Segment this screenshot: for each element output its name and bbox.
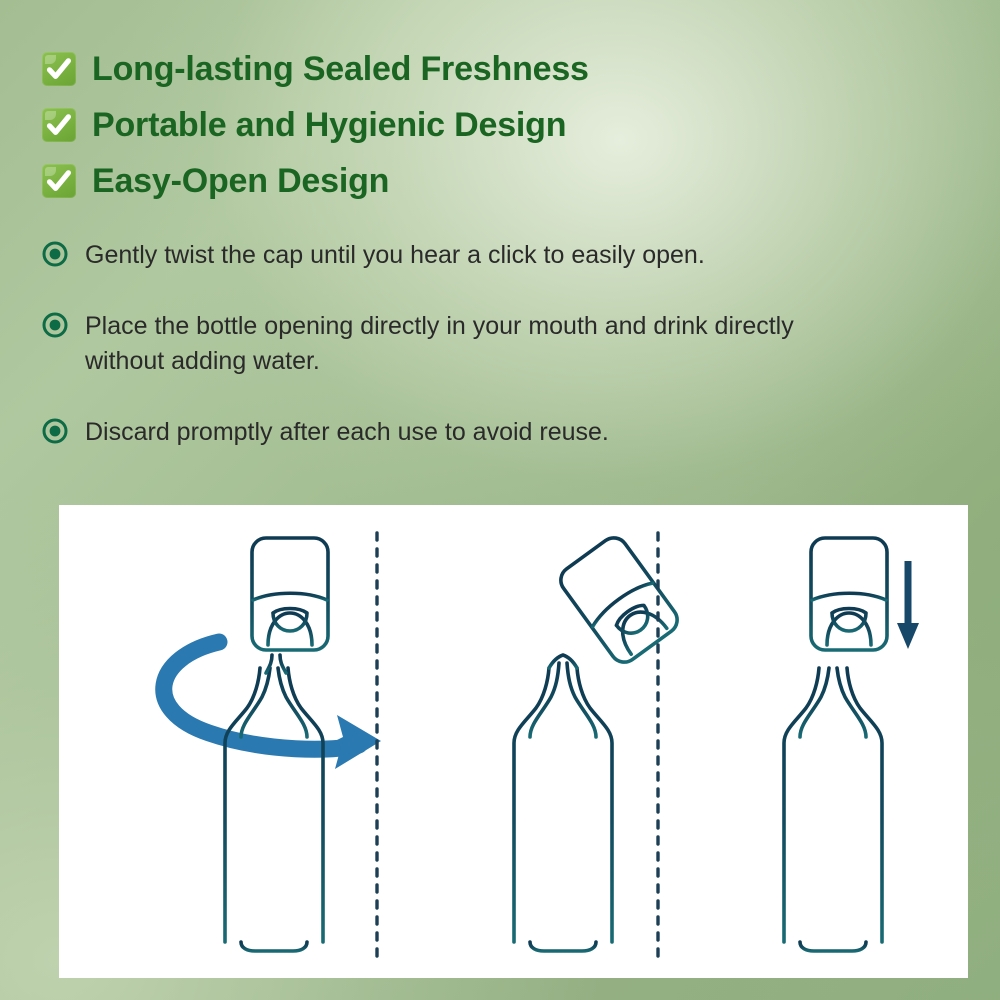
instruction-list: Gently twist the cap until you hear a cl… — [41, 238, 831, 450]
bottle-neck — [260, 651, 288, 673]
instruction-text: Place the bottle opening directly in you… — [85, 309, 815, 379]
feature-item: Long-lasting Sealed Freshness — [42, 44, 922, 94]
usage-steps-panel — [59, 505, 968, 978]
bottle-cap — [252, 538, 328, 650]
instruction-text: Discard promptly after each use to avoid… — [85, 415, 609, 450]
down-arrow-icon — [897, 561, 919, 649]
checkbox-check-icon — [42, 52, 76, 86]
feature-label: Easy-Open Design — [92, 164, 389, 198]
feature-item: Portable and Hygienic Design — [42, 100, 922, 150]
bottle-neck — [819, 651, 847, 668]
twist-cap-step — [164, 538, 381, 951]
feature-label: Portable and Hygienic Design — [92, 108, 566, 142]
bottle-outline — [225, 668, 323, 951]
bullet-target-icon — [41, 240, 69, 268]
feature-item: Easy-Open Design — [42, 156, 922, 206]
press-cap-step — [784, 538, 919, 951]
bottle-outline — [784, 668, 882, 951]
instruction-text: Gently twist the cap until you hear a cl… — [85, 238, 705, 273]
instruction-item: Discard promptly after each use to avoid… — [41, 415, 831, 450]
bullet-target-icon — [41, 311, 69, 339]
feature-label: Long-lasting Sealed Freshness — [92, 52, 589, 86]
infographic-page: Long-lasting Sealed Freshness Portable a… — [0, 0, 1000, 1000]
bottle-outline — [514, 655, 612, 951]
bottle-cap — [811, 538, 887, 650]
feature-list: Long-lasting Sealed Freshness Portable a… — [42, 44, 922, 212]
checkbox-check-icon — [42, 108, 76, 142]
instruction-item: Gently twist the cap until you hear a cl… — [41, 238, 831, 273]
checkbox-check-icon — [42, 164, 76, 198]
bullet-target-icon — [41, 417, 69, 445]
tilted-cap-icon — [555, 532, 682, 667]
instruction-item: Place the bottle opening directly in you… — [41, 309, 831, 379]
